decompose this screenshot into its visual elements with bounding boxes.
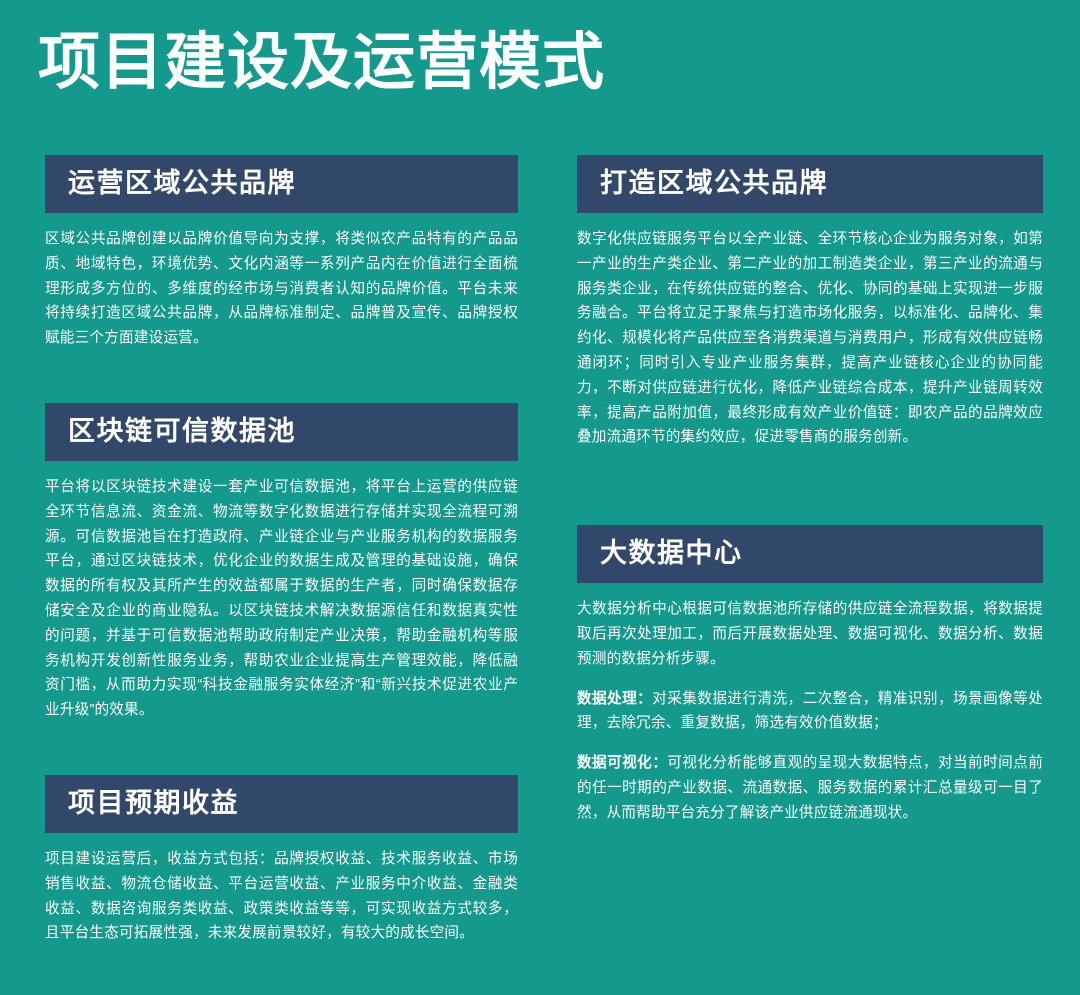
right-column: 打造区域公共品牌 数字化供应链服务平台以全产业链、全环节核心企业为服务对象，如第… — [577, 155, 1043, 826]
spacer — [45, 723, 518, 775]
paragraph-intro: 大数据分析中心根据可信数据池所存储的供应链全流程数据，将数据提取后再次处理加工，… — [577, 597, 1043, 671]
paragraph: 平台将以区块链技术建设一套产业可信数据池，将平台上运营的供应链全环节信息流、资金… — [45, 475, 518, 723]
paragraph-data-visualization: 数据可视化：可视化分析能够直观的呈现大数据特点，对当前时间点前的任一时期的产业数… — [577, 751, 1043, 825]
card-body-blockchain-data-pool: 平台将以区块链技术建设一套产业可信数据池，将平台上运营的供应链全环节信息流、资金… — [45, 461, 518, 723]
card-header-expected-revenue: 项目预期收益 — [45, 775, 518, 833]
paragraph: 区域公共品牌创建以品牌价值导向为支撑，将类似农产品特有的产品品质、地域特色，环境… — [45, 227, 518, 351]
card-body-build-regional-brand: 数字化供应链服务平台以全产业链、全环节核心企业为服务对象，如第一产业的生产类企业… — [577, 213, 1043, 450]
card-body-big-data-center: 大数据分析中心根据可信数据池所存储的供应链全流程数据，将数据提取后再次处理加工，… — [577, 583, 1043, 825]
card-operate-regional-brand: 运营区域公共品牌 区域公共品牌创建以品牌价值导向为支撑，将类似农产品特有的产品品… — [45, 155, 518, 351]
card-header-big-data-center: 大数据中心 — [577, 525, 1043, 583]
spacer — [45, 351, 518, 403]
poster-root: 项目建设及运营模式 运营区域公共品牌 区域公共品牌创建以品牌价值导向为支撑，将类… — [0, 0, 1080, 995]
paragraph: 数字化供应链服务平台以全产业链、全环节核心企业为服务对象，如第一产业的生产类企业… — [577, 227, 1043, 450]
paragraph-data-processing: 数据处理：对采集数据进行清洗，二次整合，精准识别，场景画像等处理，去除冗余、重复… — [577, 687, 1043, 737]
label-data-visualization: 数据可视化： — [577, 755, 667, 771]
card-build-regional-brand: 打造区域公共品牌 数字化供应链服务平台以全产业链、全环节核心企业为服务对象，如第… — [577, 155, 1043, 450]
card-blockchain-data-pool: 区块链可信数据池 平台将以区块链技术建设一套产业可信数据池，将平台上运营的供应链… — [45, 403, 518, 723]
card-big-data-center: 大数据中心 大数据分析中心根据可信数据池所存储的供应链全流程数据，将数据提取后再… — [577, 525, 1043, 825]
paragraph: 项目建设运营后，收益方式包括：品牌授权收益、技术服务收益、市场销售收益、物流仓储… — [45, 847, 518, 946]
page-title: 项目建设及运营模式 — [38, 26, 605, 99]
card-body-operate-regional-brand: 区域公共品牌创建以品牌价值导向为支撑，将类似农产品特有的产品品质、地域特色，环境… — [45, 213, 518, 351]
card-header-build-regional-brand: 打造区域公共品牌 — [577, 155, 1043, 213]
left-column: 运营区域公共品牌 区域公共品牌创建以品牌价值导向为支撑，将类似农产品特有的产品品… — [45, 155, 518, 946]
card-body-expected-revenue: 项目建设运营后，收益方式包括：品牌授权收益、技术服务收益、市场销售收益、物流仓储… — [45, 833, 518, 946]
label-data-processing: 数据处理： — [577, 691, 652, 707]
card-expected-revenue: 项目预期收益 项目建设运营后，收益方式包括：品牌授权收益、技术服务收益、市场销售… — [45, 775, 518, 946]
spacer — [577, 450, 1043, 525]
card-header-operate-regional-brand: 运营区域公共品牌 — [45, 155, 518, 213]
card-header-blockchain-data-pool: 区块链可信数据池 — [45, 403, 518, 461]
